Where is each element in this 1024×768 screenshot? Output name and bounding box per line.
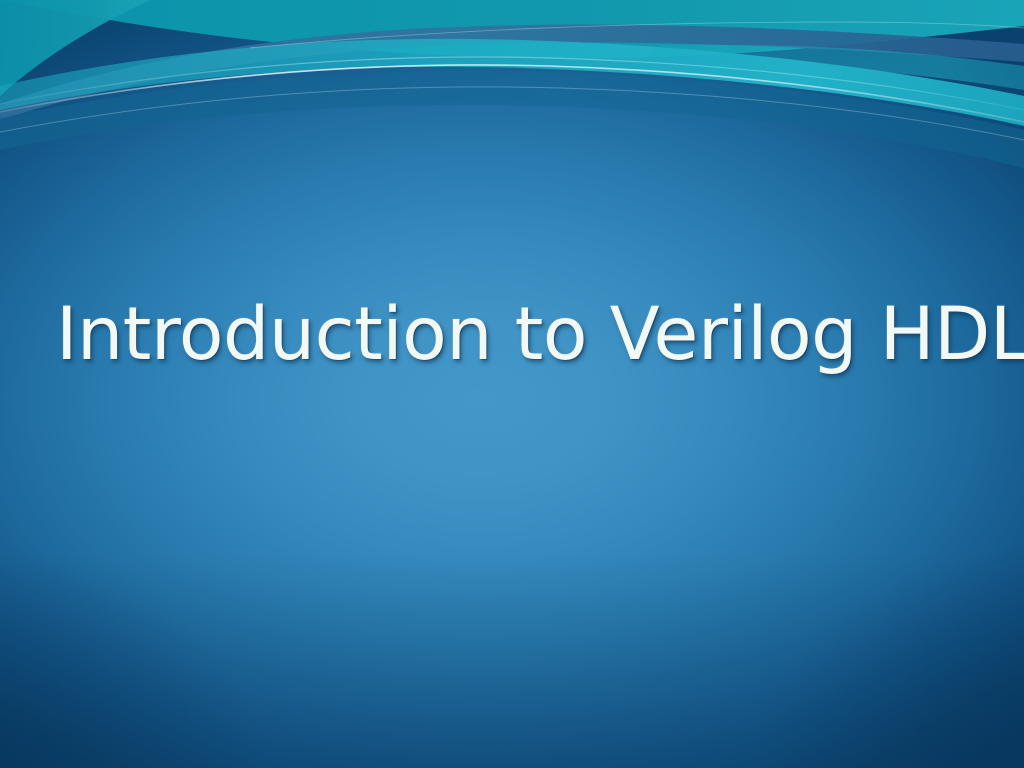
- slide-title-placeholder: Introduction to Verilog HDL: [56, 296, 1008, 375]
- slide-title: Introduction to Verilog HDL: [56, 296, 1008, 375]
- slide-background-corner-shade-right: [0, 0, 1024, 768]
- slide-canvas: Introduction to Verilog HDL: [0, 0, 1024, 768]
